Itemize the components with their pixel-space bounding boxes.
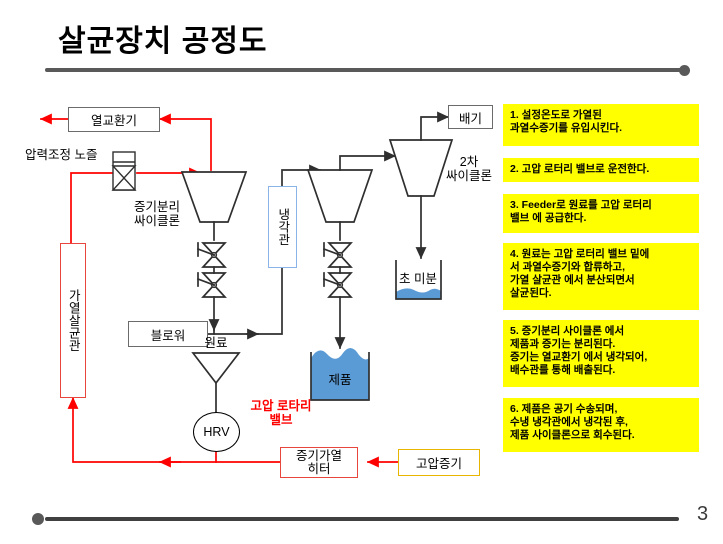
steam-heater-label: 증기가열 히터 bbox=[296, 450, 342, 476]
sterilizer-tube-label: 가열살균관 bbox=[67, 289, 80, 352]
exhaust-box[interactable]: 배기 bbox=[448, 105, 493, 129]
second-cyclone-label: 2차 싸이클론 bbox=[436, 155, 502, 183]
note-4[interactable]: 4. 원료는 고압 로터리 밸브 밑에 서 과열수증기와 합류하고, 가열 살균… bbox=[503, 243, 699, 310]
note-5[interactable]: 5. 증기분리 사이클론 에서 제품과 증기는 분리된다. 증기는 열교환기 에… bbox=[503, 320, 699, 387]
note-3[interactable]: 3. Feeder로 원료를 고압 로터리 밸브 에 공급한다. bbox=[503, 194, 699, 233]
cooling-pipe-box[interactable]: 냉각관 bbox=[268, 186, 297, 268]
steam-separator-cyclone-label: 증기분리 싸이클론 bbox=[117, 200, 197, 228]
hrv-label: HRV bbox=[203, 425, 229, 439]
note-2[interactable]: 2. 고압 로터리 밸브로 운전한다. bbox=[503, 158, 699, 182]
heat-exchanger-label: 열교환기 bbox=[91, 110, 137, 129]
steam-heater-box[interactable]: 증기가열 히터 bbox=[280, 447, 358, 478]
product-tank-label: 제품 bbox=[311, 369, 369, 388]
high-pressure-steam-label: 고압증기 bbox=[416, 453, 462, 472]
high-pressure-rotary-valve-label: 고압 로타리 밸브 bbox=[229, 399, 333, 427]
pressure-nozzle-label: 압력조정 노즐 bbox=[25, 148, 125, 162]
blower-label: 블로워 bbox=[151, 325, 186, 344]
raw-material-label: 원료 bbox=[191, 336, 241, 350]
fine-powder-tank-label: 초 미분 bbox=[394, 268, 442, 287]
high-pressure-steam-box[interactable]: 고압증기 bbox=[398, 449, 480, 476]
heat-exchanger-box[interactable]: 열교환기 bbox=[68, 107, 160, 132]
slide-canvas: 살균장치 공정도 3 bbox=[0, 0, 723, 544]
note-6[interactable]: 6. 제품은 공기 수송되며, 수냉 냉각관에서 냉각된 후, 제품 사이클론으… bbox=[503, 398, 699, 452]
cooling-pipe-label: 냉각관 bbox=[276, 208, 289, 246]
exhaust-label: 배기 bbox=[459, 108, 482, 127]
note-1[interactable]: 1. 설정온도로 가열된 과열수증기를 유입시킨다. bbox=[503, 104, 699, 146]
sterilizer-tube-box[interactable]: 가열살균관 bbox=[60, 243, 86, 398]
